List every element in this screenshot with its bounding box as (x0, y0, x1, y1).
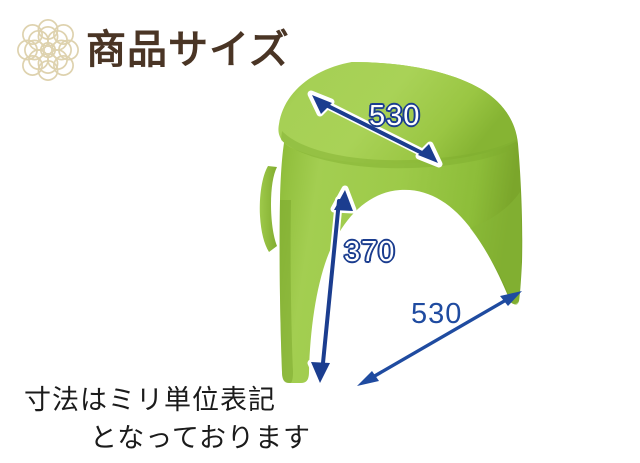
stool-front-leg-shade (280, 200, 293, 383)
stool-right-leg-shade (470, 192, 521, 305)
dimension-label-seat-width: 530 (411, 298, 462, 331)
stool-seat-rim (281, 131, 517, 168)
header: 商品サイズ (0, 0, 640, 96)
product-size-panel: 商品サイズ (0, 0, 640, 463)
unit-note-line-2: となっております (24, 420, 454, 458)
unit-note: 寸法はミリ単位表記 となっております (24, 382, 454, 458)
flower-rosette-icon (14, 16, 82, 84)
dimension-arrows (311, 94, 522, 386)
arrow-height (311, 189, 353, 384)
stool-side-handle (260, 166, 277, 252)
page-title: 商品サイズ (86, 22, 290, 78)
dimension-label-height: 370 (344, 236, 395, 269)
unit-note-line-1: 寸法はミリ単位表記 (24, 382, 454, 420)
dimension-label-seat-depth: 530 (369, 100, 420, 133)
